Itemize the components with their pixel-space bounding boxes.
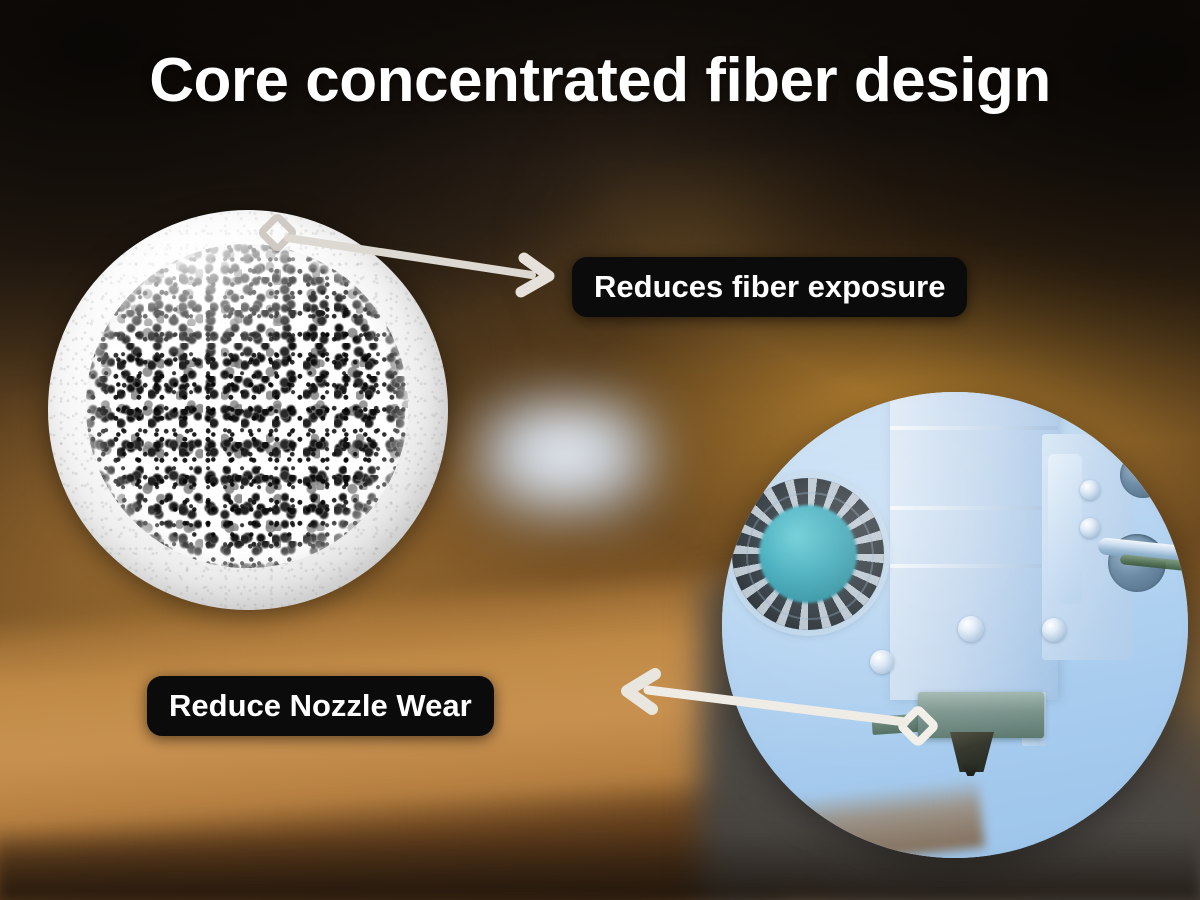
page-title: Core concentrated fiber design <box>0 50 1200 112</box>
fan-hub <box>759 505 857 603</box>
hotend-screw <box>958 616 984 642</box>
hotend-body-ridge <box>890 564 1058 568</box>
infographic-canvas: Core concentrated fiber design <box>0 0 1200 900</box>
cross-section-gloss <box>48 210 448 610</box>
hotend-screw <box>1042 618 1066 642</box>
hotend-heater-block <box>918 692 1044 738</box>
hotend-screw <box>1080 518 1100 538</box>
filament-cross-section-image <box>48 210 448 610</box>
printer-hotend-image <box>722 392 1188 858</box>
hotend-bore-hole <box>1120 452 1166 498</box>
hotend-screw <box>870 650 894 674</box>
hotend-blower-fan <box>732 478 884 630</box>
arrow-head-icon <box>521 258 549 292</box>
callout-label-reduces-fiber-exposure: Reduces fiber exposure <box>572 257 967 317</box>
hotend-mount-tab <box>1048 454 1082 604</box>
callout-label-reduce-nozzle-wear: Reduce Nozzle Wear <box>147 676 494 736</box>
hotend-body-ridge <box>890 426 1058 430</box>
hotend-extruder-body <box>890 392 1058 700</box>
hotend-screw <box>1080 480 1100 500</box>
hotend-body-ridge <box>890 506 1058 510</box>
background-bokeh-highlight <box>470 398 660 520</box>
